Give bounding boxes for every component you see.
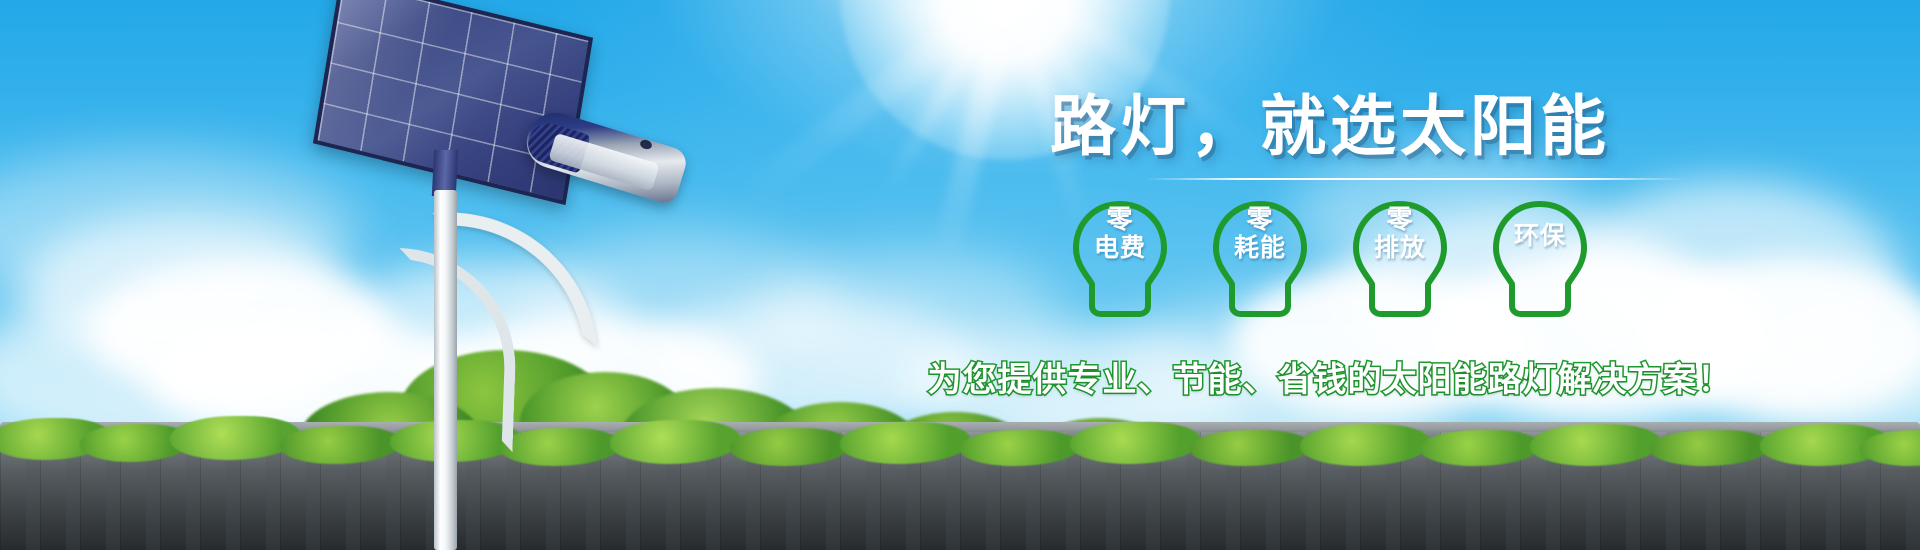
feature-badge-text: 环保 bbox=[1490, 222, 1590, 249]
feature-badge-prefix: 零 bbox=[1070, 206, 1170, 234]
feature-badge-text: 零 耗能 bbox=[1210, 206, 1310, 261]
banner-tagline: 为您提供专业、节能、省钱的太阳能路灯解决方案！ bbox=[740, 352, 1920, 401]
banner-headline: 路灯，就选太阳能 bbox=[740, 92, 1920, 161]
feature-badge: 零 耗能 bbox=[1210, 198, 1310, 318]
feature-badge-label: 排放 bbox=[1374, 233, 1426, 262]
feature-badge: 零 排放 bbox=[1350, 198, 1450, 318]
solar-street-light-illustration bbox=[300, 0, 720, 550]
feature-badge-label: 环保 bbox=[1514, 221, 1566, 250]
bulb-outline-icon bbox=[1490, 198, 1590, 318]
feature-badge-text: 零 电费 bbox=[1070, 206, 1170, 261]
feature-badge-prefix: 零 bbox=[1210, 206, 1310, 234]
feature-badge-label: 耗能 bbox=[1234, 233, 1286, 262]
feature-badge-prefix: 零 bbox=[1350, 206, 1450, 234]
feature-badge-label: 电费 bbox=[1094, 233, 1146, 262]
solar-street-light-banner: 路灯，就选太阳能 零 电费 零 耗能 bbox=[0, 0, 1920, 550]
banner-copy: 路灯，就选太阳能 零 电费 零 耗能 bbox=[740, 0, 1920, 550]
feature-badge-list: 零 电费 零 耗能 零 排放 bbox=[890, 198, 1770, 323]
feature-badge: 零 电费 bbox=[1070, 198, 1170, 318]
feature-badge: 环保 bbox=[1490, 198, 1590, 318]
feature-badge-text: 零 排放 bbox=[1350, 206, 1450, 261]
headline-divider bbox=[1144, 178, 1684, 180]
lamp-pole bbox=[434, 190, 457, 550]
